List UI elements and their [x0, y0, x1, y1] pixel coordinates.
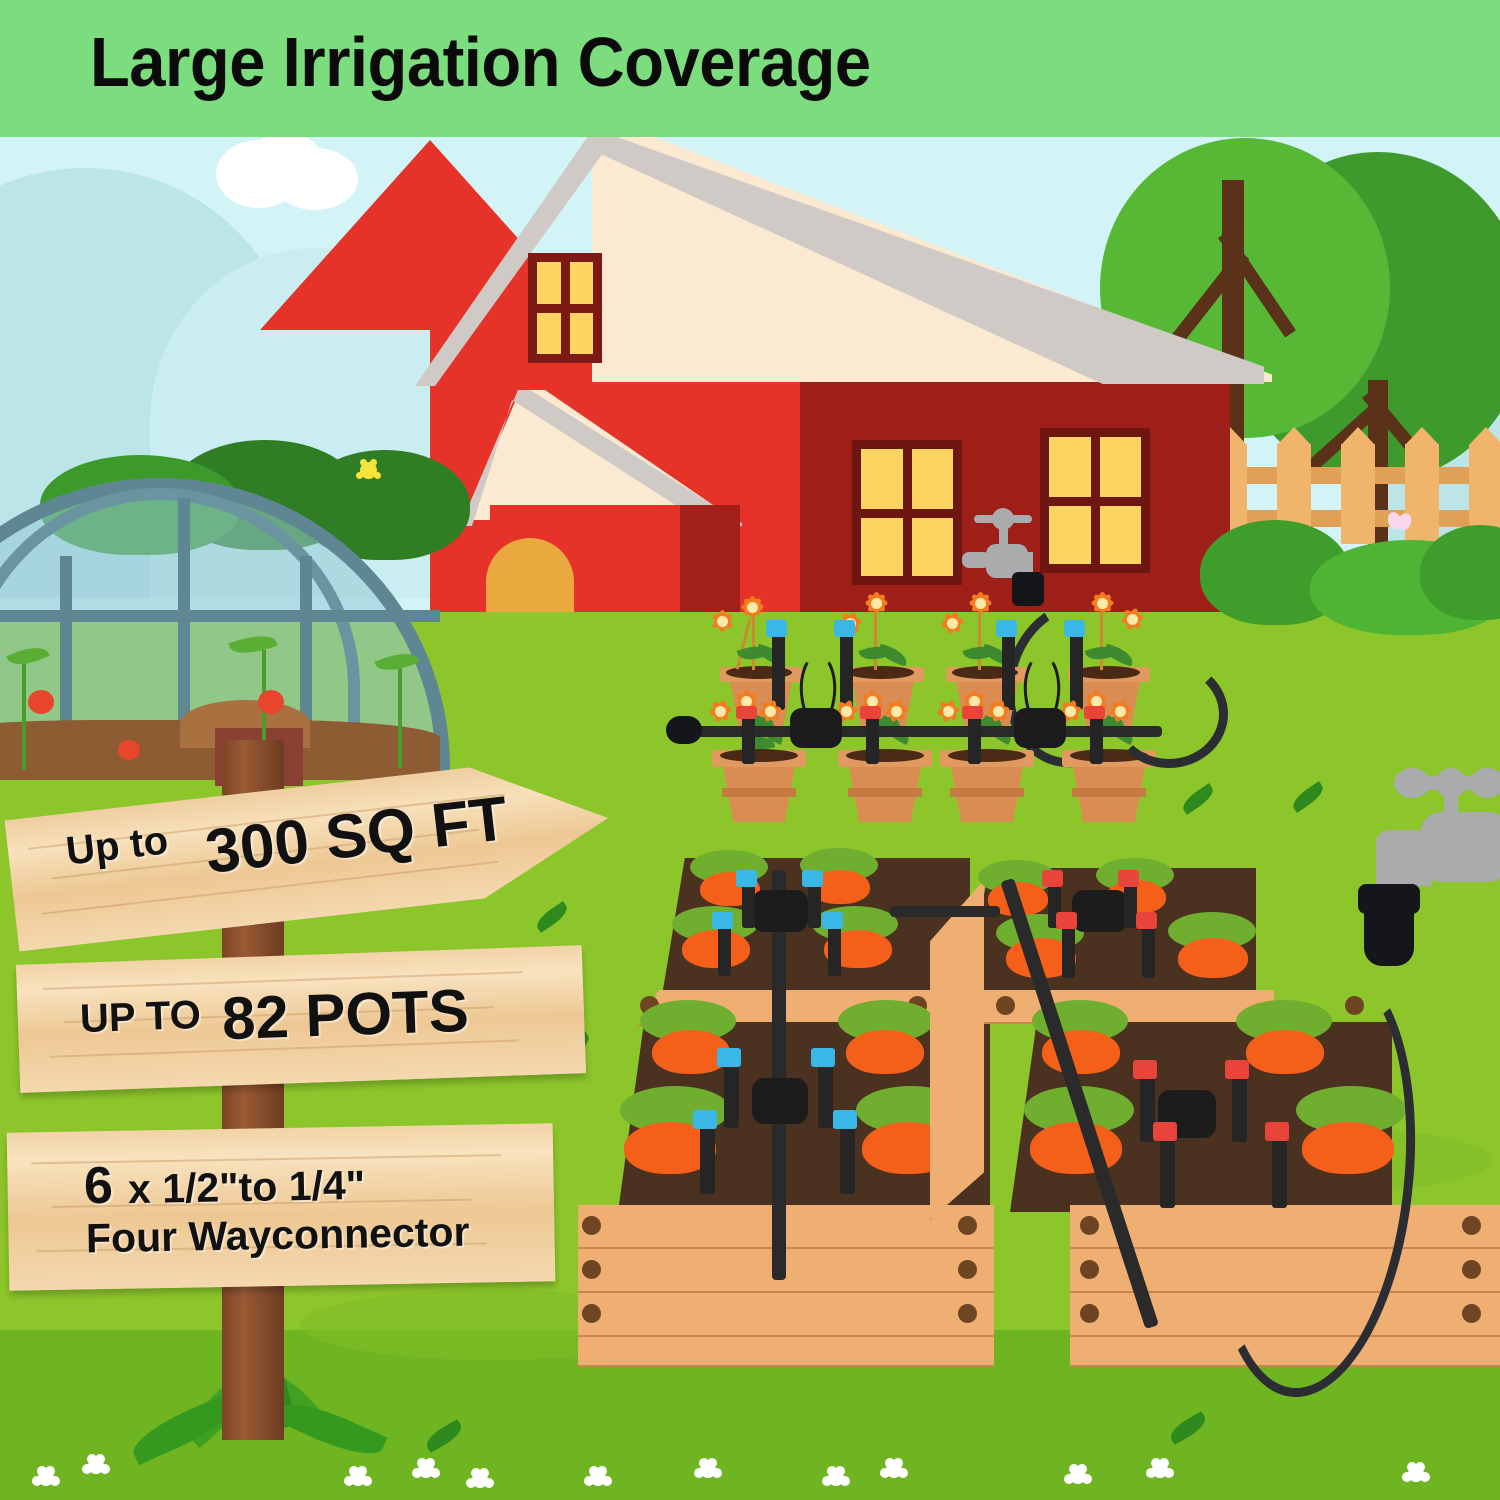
window-bar-horizontal — [537, 304, 593, 313]
daisy — [700, 1462, 716, 1478]
daisy — [1408, 1466, 1424, 1482]
pot-soil — [720, 749, 798, 762]
sprinkler-riser — [840, 1122, 855, 1194]
sprinkler-head-red — [736, 706, 757, 719]
header-banner: Large Irrigation Coverage — [0, 0, 1500, 137]
four-way-connector — [1072, 890, 1128, 932]
sprinkler-head-red — [1084, 706, 1105, 719]
fence-post-4 — [1405, 444, 1439, 544]
yard-faucet-elbow — [1376, 830, 1432, 886]
sign-connector-line1-rest: x 1/2"to 1/4" — [128, 1162, 366, 1213]
sign-pots-big-text: 82 POTS — [221, 976, 470, 1054]
page-title: Large Irrigation Coverage — [90, 22, 871, 102]
bed-bolt — [1462, 1260, 1481, 1279]
daisy — [1070, 1468, 1086, 1484]
sprinkler-head-blue — [996, 620, 1017, 637]
sprinkler-head-blue — [712, 912, 733, 929]
sprinkler-riser — [1142, 922, 1155, 978]
sprinkler-riser — [742, 880, 755, 928]
sprinkler-head-red — [962, 706, 983, 719]
bed-bolt — [582, 1260, 601, 1279]
daisy — [828, 1470, 844, 1486]
pot-band — [950, 788, 1024, 797]
sprinkler-head-blue — [834, 620, 855, 637]
flower-stem — [874, 610, 877, 670]
tomato-fruit-2 — [258, 690, 284, 714]
daisy — [590, 1470, 606, 1486]
pot-soil — [948, 749, 1026, 762]
wall-hose-adapter — [1012, 572, 1044, 606]
sprinkler-head-blue — [766, 620, 787, 637]
bed-plank-low — [578, 1293, 994, 1337]
bed-bolt — [1462, 1216, 1481, 1235]
sprinkler-head-red — [1042, 870, 1063, 887]
sprinkler-head-red — [860, 706, 881, 719]
sprinkler-head-blue — [822, 912, 843, 929]
bed-bolt — [1080, 1216, 1099, 1235]
bed-plank-mid — [578, 1249, 994, 1293]
house-gable-left — [260, 140, 430, 330]
daisy — [38, 1470, 54, 1486]
four-way-connector — [752, 1078, 808, 1124]
window-bar-horizontal — [1049, 497, 1141, 506]
window-bar-horizontal — [861, 509, 953, 518]
four-way-connector — [752, 890, 808, 932]
pot-riser — [742, 716, 755, 764]
sprinkler-riser — [718, 922, 731, 976]
pot-riser — [968, 716, 981, 764]
bed-bolt — [996, 996, 1015, 1015]
bed-bolt — [1080, 1260, 1099, 1279]
sprinkler-head-red — [1133, 1060, 1157, 1079]
flower-stem — [978, 610, 981, 670]
window-attic — [528, 253, 602, 363]
window-left — [852, 440, 962, 585]
flower-stem — [1100, 610, 1103, 670]
sprinkler-head-red — [1118, 870, 1139, 887]
daisy — [472, 1472, 488, 1488]
pot-band — [848, 788, 922, 797]
bed-bolt — [582, 1304, 601, 1323]
fence-post-3 — [1341, 444, 1375, 544]
daisy — [418, 1462, 434, 1478]
yard-hose-adapter-body — [1364, 908, 1414, 966]
wall-faucet-inlet — [962, 552, 990, 568]
yard-faucet-handle-bar — [1394, 776, 1500, 790]
pot-soil — [846, 749, 924, 762]
sprinkler-riser — [828, 922, 841, 976]
bed-bolt — [958, 1304, 977, 1323]
sprinkler-head-red — [1153, 1122, 1177, 1141]
sprinkler-head-red — [1056, 912, 1077, 929]
window-right — [1040, 428, 1150, 573]
bed-link-tube — [890, 906, 1000, 917]
bed-plank-bottom — [578, 1337, 994, 1367]
sprinkler-head-red — [1136, 912, 1157, 929]
tomato-stem-1 — [22, 660, 26, 770]
sprinkler-head-blue — [802, 870, 823, 887]
bed-bolt — [1462, 1304, 1481, 1323]
sprinkler-riser — [1160, 1134, 1175, 1208]
sprinkler-riser — [1062, 922, 1075, 978]
bed-bolt — [958, 1260, 977, 1279]
sprinkler-riser — [724, 1060, 739, 1128]
pot-riser — [866, 716, 879, 764]
product-infographic: Up to 300 SQ FT UP TO 82 POTS 6 x 1/2"to… — [0, 0, 1500, 1500]
bed-bolt — [1080, 1304, 1099, 1323]
daisy — [88, 1458, 104, 1474]
tomato-fruit-3 — [118, 740, 140, 760]
daisy — [886, 1462, 902, 1478]
sign-connector-line1-big: 6 — [83, 1156, 113, 1216]
sprinkler-riser — [818, 1060, 833, 1128]
sign-pots-small-text: UP TO — [79, 993, 201, 1042]
sprinkler-head-blue — [1064, 620, 1085, 637]
sprinkler-head-blue — [717, 1048, 741, 1067]
daisy — [350, 1470, 366, 1486]
sprinkler-head-blue — [833, 1110, 857, 1129]
tomato-stem-3 — [398, 668, 402, 768]
sprinkler-riser — [700, 1122, 715, 1194]
pot-riser — [1090, 716, 1103, 764]
line-end-cap — [666, 716, 702, 744]
pot-band — [722, 788, 796, 797]
bed-bolt — [958, 1216, 977, 1235]
sprinkler-riser — [808, 880, 821, 928]
feed-hose-right — [1110, 660, 1228, 768]
daisy — [1152, 1462, 1168, 1478]
tomato-fruit-1 — [28, 690, 54, 714]
flower-stem — [752, 610, 755, 670]
sprinkler-head-blue — [811, 1048, 835, 1067]
pot-band — [1072, 788, 1146, 797]
pot-soil — [848, 666, 914, 679]
bush-flower-yellow — [360, 462, 377, 479]
sprinkler-head-blue — [736, 870, 757, 887]
sign-connector-line2: Four Wayconnector — [86, 1209, 470, 1263]
sprinkler-head-blue — [693, 1110, 717, 1129]
bed-bolt — [582, 1216, 601, 1235]
